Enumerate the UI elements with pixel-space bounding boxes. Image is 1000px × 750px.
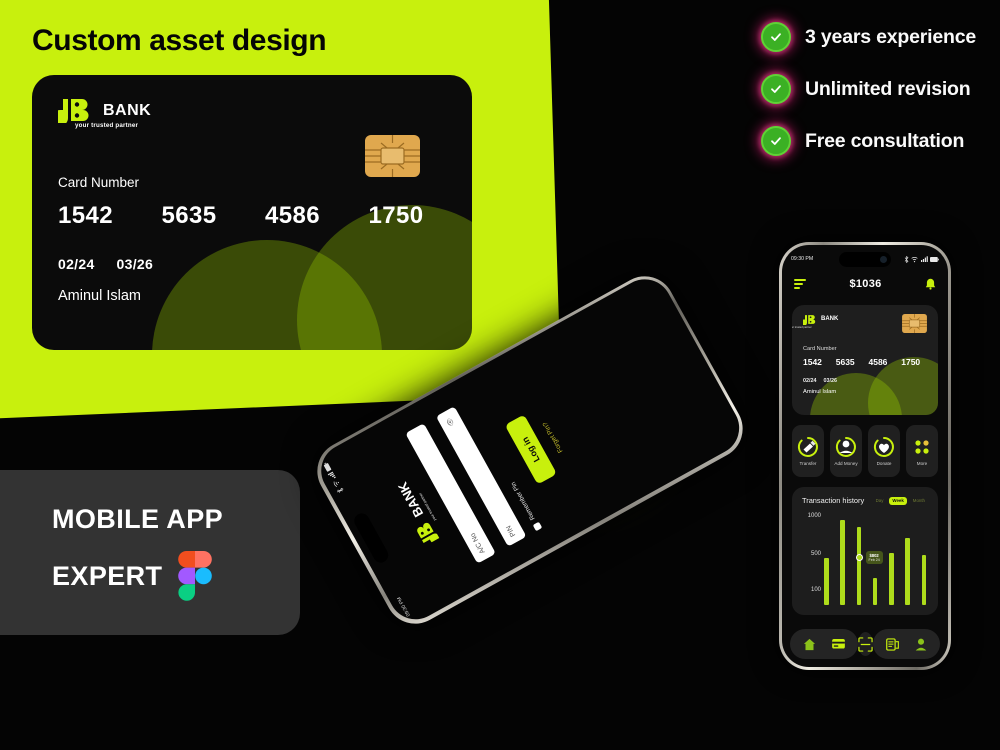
profile-icon[interactable] xyxy=(915,638,927,651)
bar-chart: 1000 500 100 $802 Feb 24 xyxy=(802,511,928,608)
tabbar-right-group xyxy=(873,629,940,659)
check-circle-icon xyxy=(761,74,791,104)
pin-placeholder: PIN xyxy=(505,524,517,538)
wifi-icon xyxy=(911,256,918,263)
figma-logo-icon xyxy=(178,551,212,601)
battery-icon xyxy=(930,257,939,262)
transfer-icon xyxy=(797,436,819,458)
card-number-label: Card Number xyxy=(58,175,446,190)
quick-action-donate[interactable]: Donate xyxy=(868,425,900,477)
card-holder-name: Aminul Islam xyxy=(803,389,927,395)
card-number-group: 4586 xyxy=(869,357,895,367)
quick-action-label: Transfer xyxy=(800,461,817,466)
range-tabs: Day Week Month xyxy=(873,497,928,505)
transaction-header: Transaction history Day Week Month xyxy=(802,496,928,505)
transaction-title: Transaction history xyxy=(802,496,864,505)
quick-action-add-money[interactable]: Add Money xyxy=(830,425,862,477)
tab-week[interactable]: Week xyxy=(889,497,906,505)
list-item: Free consultation xyxy=(761,126,976,156)
dashboard-screen: 09:30 PM $1036 xyxy=(782,245,948,667)
db-logo-mark-icon xyxy=(803,314,819,325)
transaction-history-card: Transaction history Day Week Month 1000 … xyxy=(792,487,938,615)
bank-name: BANK xyxy=(103,103,151,119)
card-number-group: 1542 xyxy=(58,202,136,230)
poster-canvas: Custom asset design BANK your tru xyxy=(0,0,1000,750)
card-valid-from: 02/24 xyxy=(58,256,95,272)
donate-icon xyxy=(873,436,895,458)
bluetooth-icon xyxy=(904,256,909,263)
card-number-label: Card Number xyxy=(803,346,927,352)
expert-line-2: EXPERT xyxy=(52,561,162,592)
upright-phone-mockup: 09:30 PM $1036 xyxy=(779,242,951,670)
eye-toggle-icon[interactable]: 👁 xyxy=(445,416,456,428)
chart-bar[interactable] xyxy=(922,555,927,605)
chart-highlight-dot[interactable] xyxy=(856,554,863,561)
dashboard-credit-card[interactable]: BANK your trusted partner Card Number 15… xyxy=(792,305,938,415)
home-icon[interactable] xyxy=(803,638,816,651)
quick-action-label: Donate xyxy=(877,461,892,466)
hamburger-menu-icon[interactable] xyxy=(794,279,806,290)
y-tick: 100 xyxy=(811,587,821,593)
card-dates: 02/24 03/26 xyxy=(803,378,927,384)
quick-action-transfer[interactable]: Transfer xyxy=(792,425,824,477)
quick-action-label: More xyxy=(917,461,927,466)
emv-chip-icon xyxy=(365,135,420,177)
qr-scan-icon[interactable] xyxy=(858,632,873,656)
add-money-icon xyxy=(835,436,857,458)
bank-tagline: your trusted partner xyxy=(75,122,151,129)
chart-bar[interactable] xyxy=(905,538,910,605)
check-circle-icon xyxy=(761,126,791,156)
card-number-group: 4586 xyxy=(265,202,343,230)
card-number-group: 1750 xyxy=(369,202,447,230)
y-tick: 500 xyxy=(811,551,821,557)
bluetooth-icon xyxy=(336,487,345,495)
forget-pin-link[interactable]: Forget Pin? xyxy=(541,421,564,454)
card-number-group: 5635 xyxy=(162,202,240,230)
feature-checklist: 3 years experience Unlimited revision Fr… xyxy=(761,22,976,156)
quick-action-label: Add Money xyxy=(834,461,857,466)
remember-pin-checkbox[interactable] xyxy=(533,522,543,532)
notification-bell-icon[interactable] xyxy=(925,278,936,290)
card-dates: 02/24 03/26 xyxy=(58,256,446,272)
status-time: 09:30 PM xyxy=(791,256,813,262)
card-number-groups: 1542 5635 4586 1750 xyxy=(803,357,927,367)
status-icons xyxy=(322,462,345,495)
chart-bar[interactable] xyxy=(889,553,894,605)
credit-card-hero: BANK your trusted partner Card Number 15… xyxy=(32,75,472,350)
tab-month[interactable]: Month xyxy=(910,497,928,505)
phone-notch xyxy=(839,252,891,267)
phone-notch xyxy=(351,511,390,566)
mobile-app-expert-badge: MOBILE APP EXPERT xyxy=(0,470,300,635)
quick-actions-row: Transfer Add Money Donate xyxy=(792,425,938,477)
card-valid-thru: 03/26 xyxy=(824,378,838,384)
card-valid-thru: 03/26 xyxy=(117,256,154,272)
tabbar-left-group xyxy=(790,629,858,659)
card-holder-name: Aminul Islam xyxy=(58,288,446,304)
checklist-label: Free consultation xyxy=(805,130,964,153)
y-tick: 1000 xyxy=(808,513,821,519)
tooltip-date: Feb 24 xyxy=(869,558,880,562)
chart-tooltip: $802 Feb 24 xyxy=(866,551,883,564)
cellular-icon xyxy=(921,256,928,262)
expert-line-1: MOBILE APP xyxy=(52,504,300,535)
quick-action-more[interactable]: More xyxy=(906,425,938,477)
checklist-label: 3 years experience xyxy=(805,26,976,49)
list-item: 3 years experience xyxy=(761,22,976,52)
app-header: $1036 xyxy=(782,271,948,297)
card-valid-from: 02/24 xyxy=(803,378,817,384)
emv-chip-icon xyxy=(902,314,927,333)
transactions-icon[interactable] xyxy=(886,638,899,651)
front-camera-icon xyxy=(880,256,887,263)
account-number-placeholder: A/C No xyxy=(469,532,486,555)
more-grid-icon xyxy=(911,436,933,458)
battery-icon xyxy=(323,462,332,472)
checklist-label: Unlimited revision xyxy=(805,78,970,101)
bottom-tab-bar xyxy=(790,627,940,661)
tab-day[interactable]: Day xyxy=(873,497,887,505)
list-item: Unlimited revision xyxy=(761,74,976,104)
card-number-group: 5635 xyxy=(836,357,862,367)
bank-name: BANK xyxy=(821,314,838,322)
chart-bar[interactable] xyxy=(840,520,845,605)
card-number-group: 1750 xyxy=(901,357,927,367)
y-axis: 1000 500 100 xyxy=(802,511,822,596)
db-logo-mark-icon xyxy=(58,97,98,123)
card-number-groups: 1542 5635 4586 1750 xyxy=(58,202,446,230)
check-circle-icon xyxy=(761,22,791,52)
status-time: 09:30 PM xyxy=(396,596,412,618)
page-title: Custom asset design xyxy=(32,24,326,58)
status-icons xyxy=(904,256,940,263)
card-icon[interactable] xyxy=(832,639,845,649)
chart-bar[interactable] xyxy=(857,527,862,605)
account-balance: $1036 xyxy=(849,278,881,290)
card-number-group: 1542 xyxy=(803,357,829,367)
bank-logo: BANK your trusted partner xyxy=(58,97,446,129)
chart-bar[interactable] xyxy=(873,578,878,605)
chart-bar[interactable] xyxy=(824,558,829,605)
